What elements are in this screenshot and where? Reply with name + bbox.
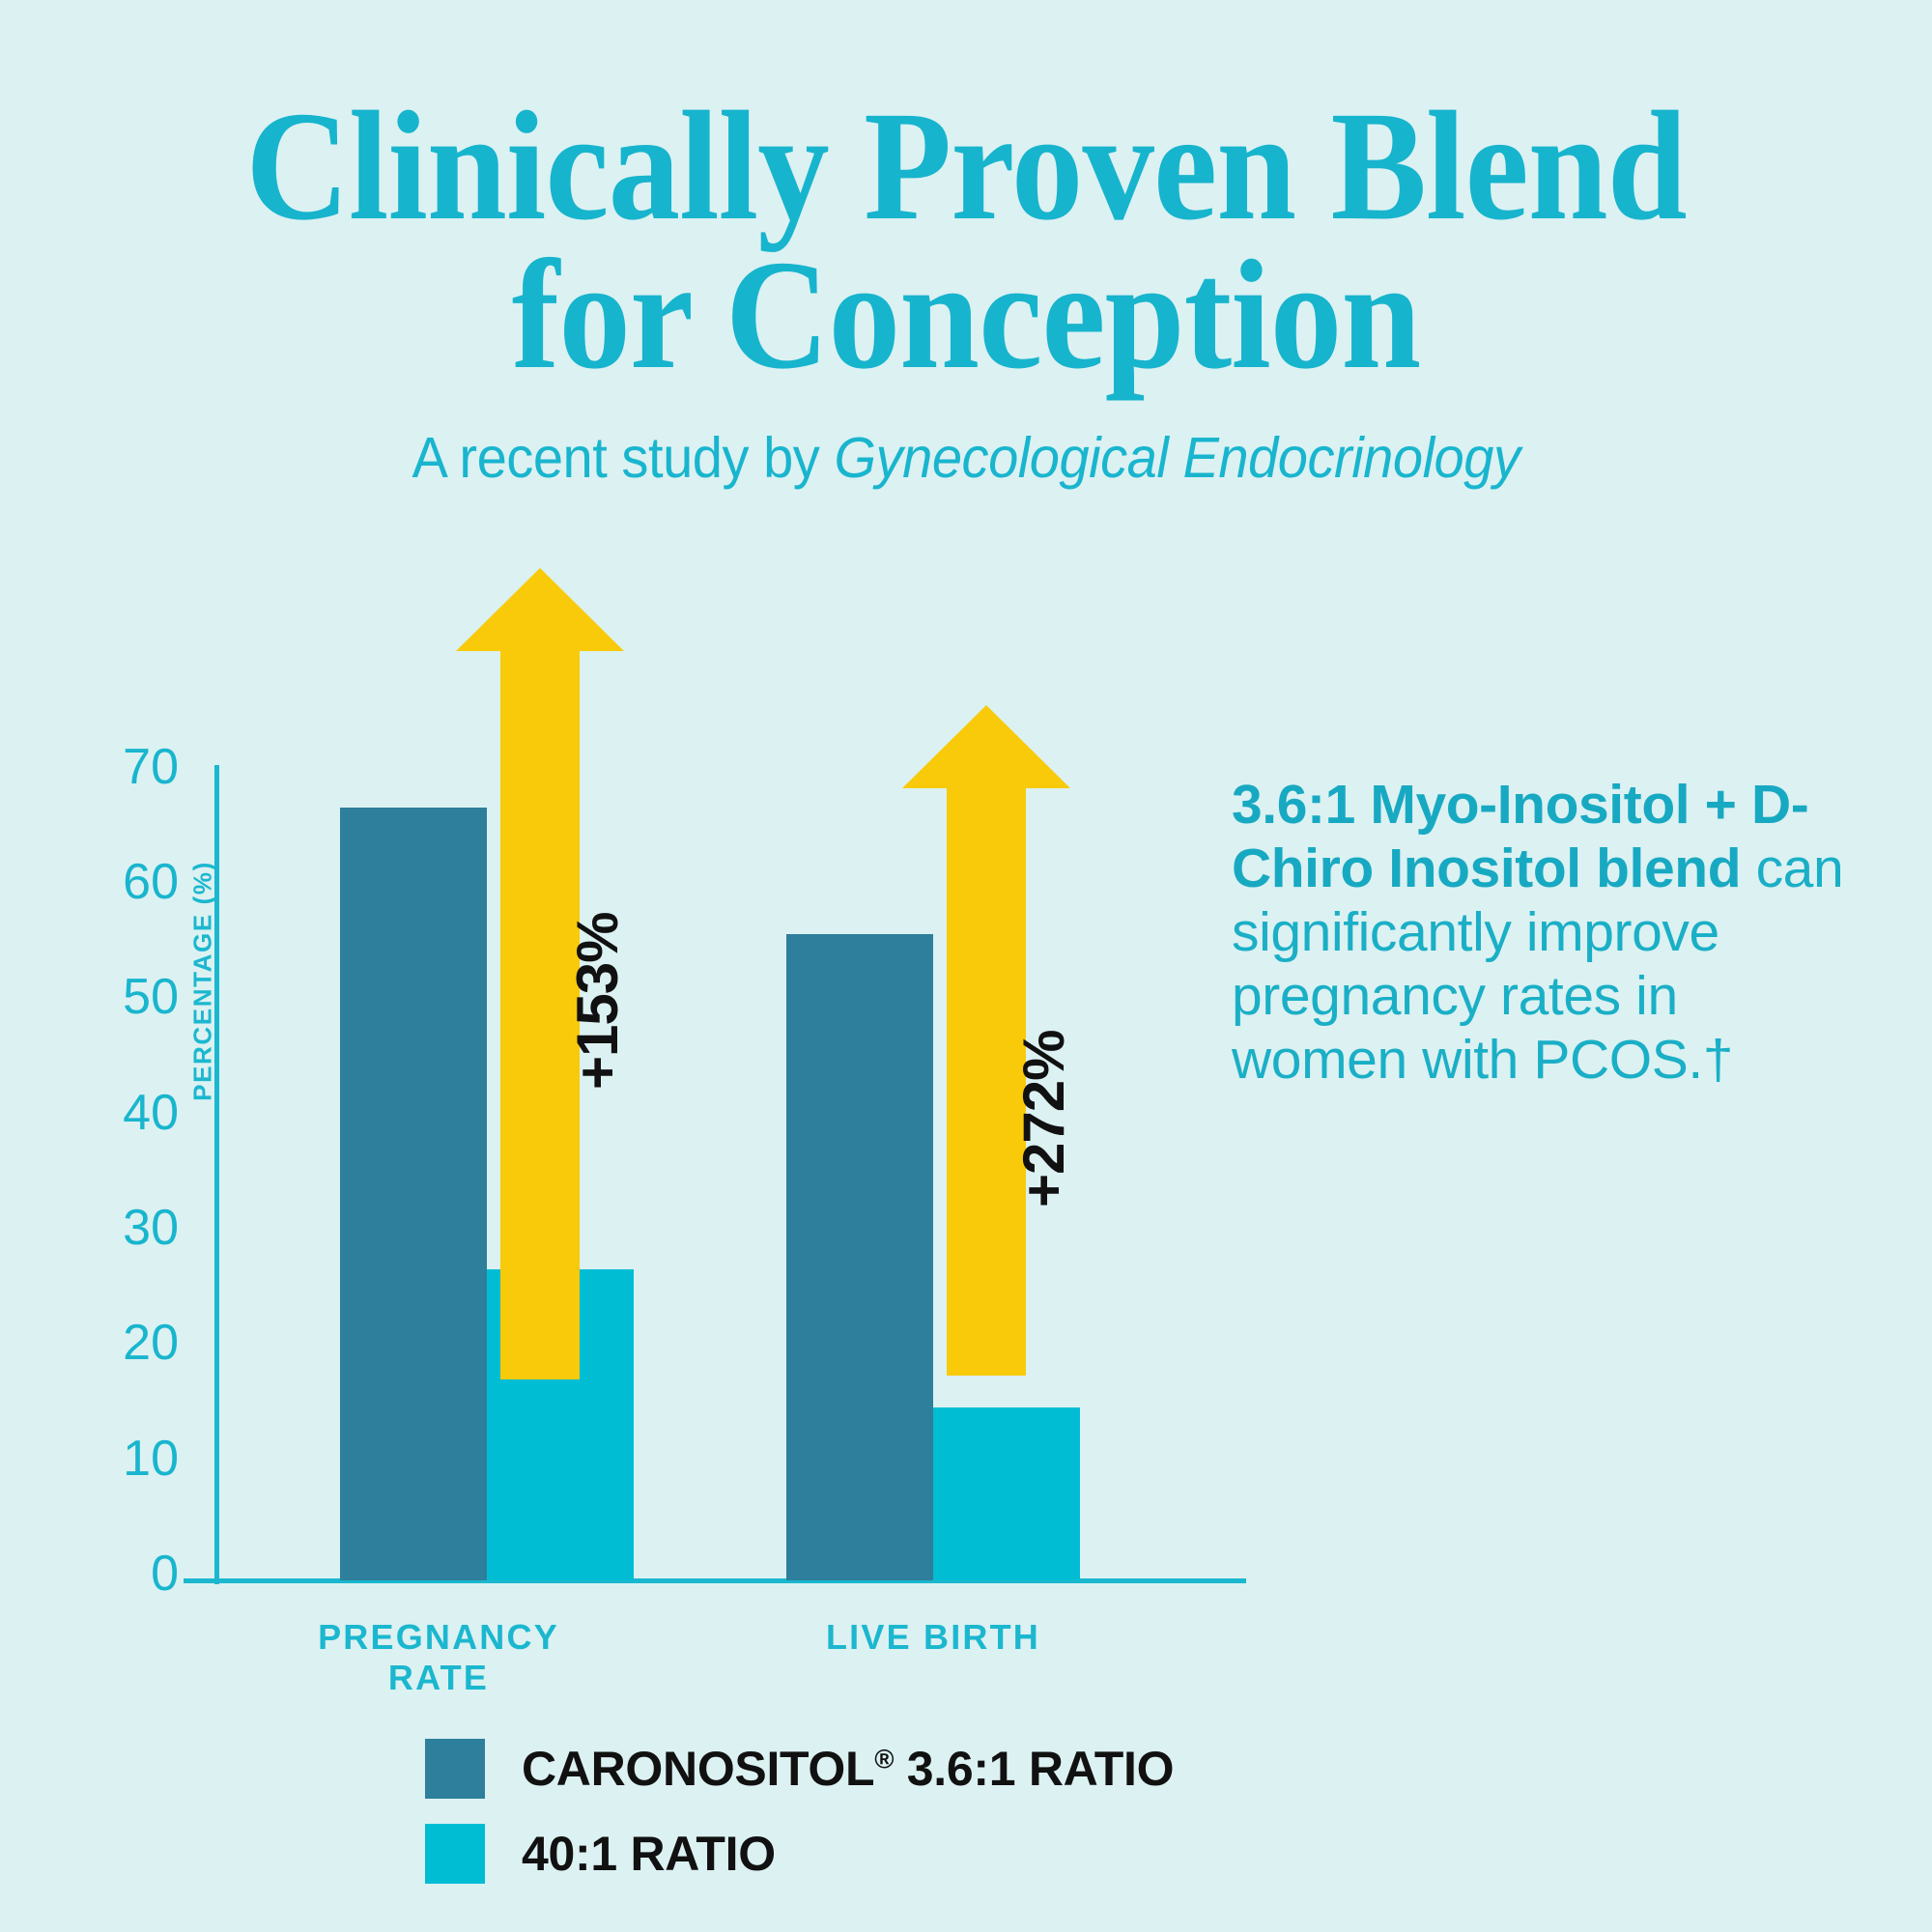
x-label-pregnancy-rate: PREGNANCY RATE — [294, 1617, 583, 1698]
infographic-root: Clinically Proven Blend for Conception A… — [0, 0, 1932, 1932]
registered-trademark-icon: ® — [874, 1744, 894, 1774]
legend-label-40to1: 40:1 RATIO — [522, 1826, 776, 1882]
legend-label-caronositol-main: CARONOSITOL — [522, 1742, 874, 1796]
legend-label-40to1-main: 40:1 RATIO — [522, 1827, 776, 1881]
growth-arrow-label-272: +272% — [1010, 1031, 1077, 1208]
chart-legend: CARONOSITOL® 3.6:1 RATIO 40:1 RATIO — [425, 1739, 1174, 1909]
legend-swatch-40to1 — [425, 1824, 485, 1884]
legend-item-40to1: 40:1 RATIO — [425, 1824, 1174, 1884]
growth-arrow-label-153: +153% — [564, 913, 631, 1091]
callout-text: 3.6:1 Myo-Inositol + D-Chiro Inositol bl… — [1232, 773, 1850, 1093]
growth-arrow-pregnancy-rate: +153% — [456, 568, 624, 1379]
callout-bold-text: 3.6:1 Myo-Inositol + D-Chiro Inositol bl… — [1232, 774, 1808, 899]
legend-label-caronositol-rest: 3.6:1 RATIO — [894, 1742, 1174, 1796]
legend-swatch-caronositol — [425, 1739, 485, 1799]
x-label-live-birth: LIVE BIRTH — [788, 1617, 1078, 1658]
growth-arrow-live-birth: +272% — [902, 705, 1070, 1376]
bar-live-birth-40to1 — [933, 1407, 1080, 1580]
bar-chart: PERCENTAGE (%) 70 60 50 40 30 20 10 0 — [0, 0, 1256, 1932]
legend-item-caronositol: CARONOSITOL® 3.6:1 RATIO — [425, 1739, 1174, 1799]
legend-label-caronositol: CARONOSITOL® 3.6:1 RATIO — [522, 1741, 1174, 1797]
